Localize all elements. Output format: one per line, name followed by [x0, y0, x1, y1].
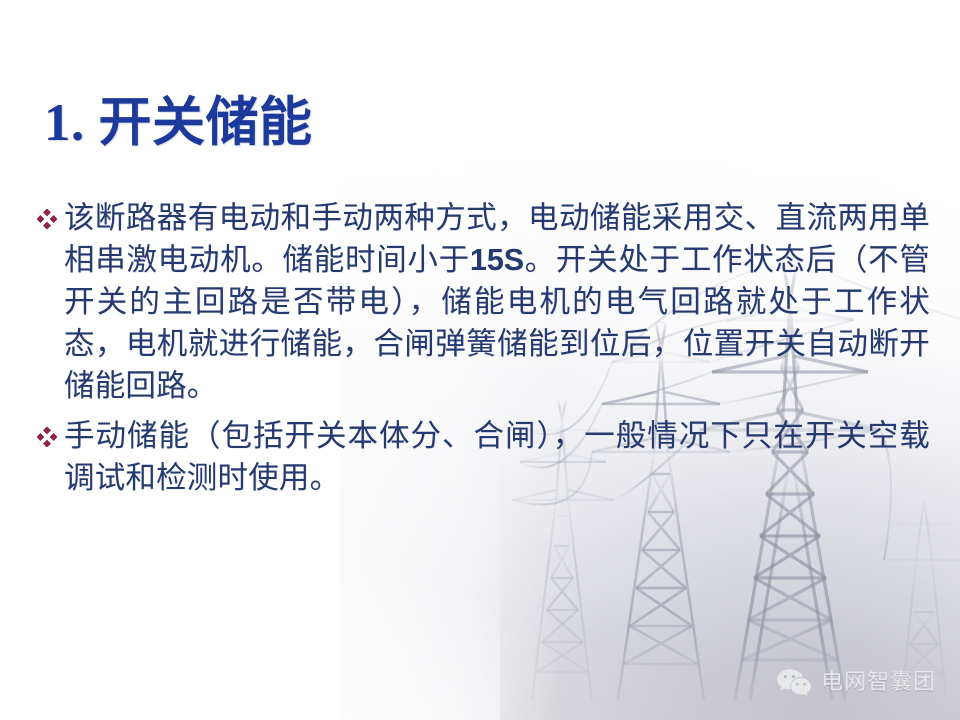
watermark-label: 电网智囊团: [821, 672, 936, 694]
wechat-icon: [776, 668, 812, 698]
bullet-text-part-1: 手动储能（包括开关本体分、合闸），一般情况下只在开关空载调试和检测时使用。: [64, 419, 930, 495]
list-item-text: 该断路器有电动和手动两种方式，电动储能采用交、直流两用单相串激电动机。储能时间小…: [64, 197, 930, 407]
list-item-text: 手动储能（包括开关本体分、合闸），一般情况下只在开关空载调试和检测时使用。: [64, 415, 930, 499]
watermark: 电网智囊团: [776, 668, 936, 698]
four-diamond-bullet-icon: [37, 209, 57, 229]
slide-body: 该断路器有电动和手动两种方式，电动储能采用交、直流两用单相串激电动机。储能时间小…: [34, 197, 930, 507]
four-diamond-bullet-icon: [37, 427, 57, 447]
bullet-marker: [34, 197, 64, 239]
list-item: 手动储能（包括开关本体分、合闸），一般情况下只在开关空载调试和检测时使用。: [34, 415, 930, 499]
list-item: 该断路器有电动和手动两种方式，电动储能采用交、直流两用单相串激电动机。储能时间小…: [34, 197, 930, 407]
bullet-emphasis-value: 15S: [470, 243, 524, 277]
bullet-marker: [34, 415, 64, 457]
presentation-slide: 1. 开关储能 该断路器有电动和手动两种方式，电动储能采用交、直流两用单相串激电…: [0, 0, 960, 720]
slide-title: 1. 开关储能: [44, 96, 313, 152]
